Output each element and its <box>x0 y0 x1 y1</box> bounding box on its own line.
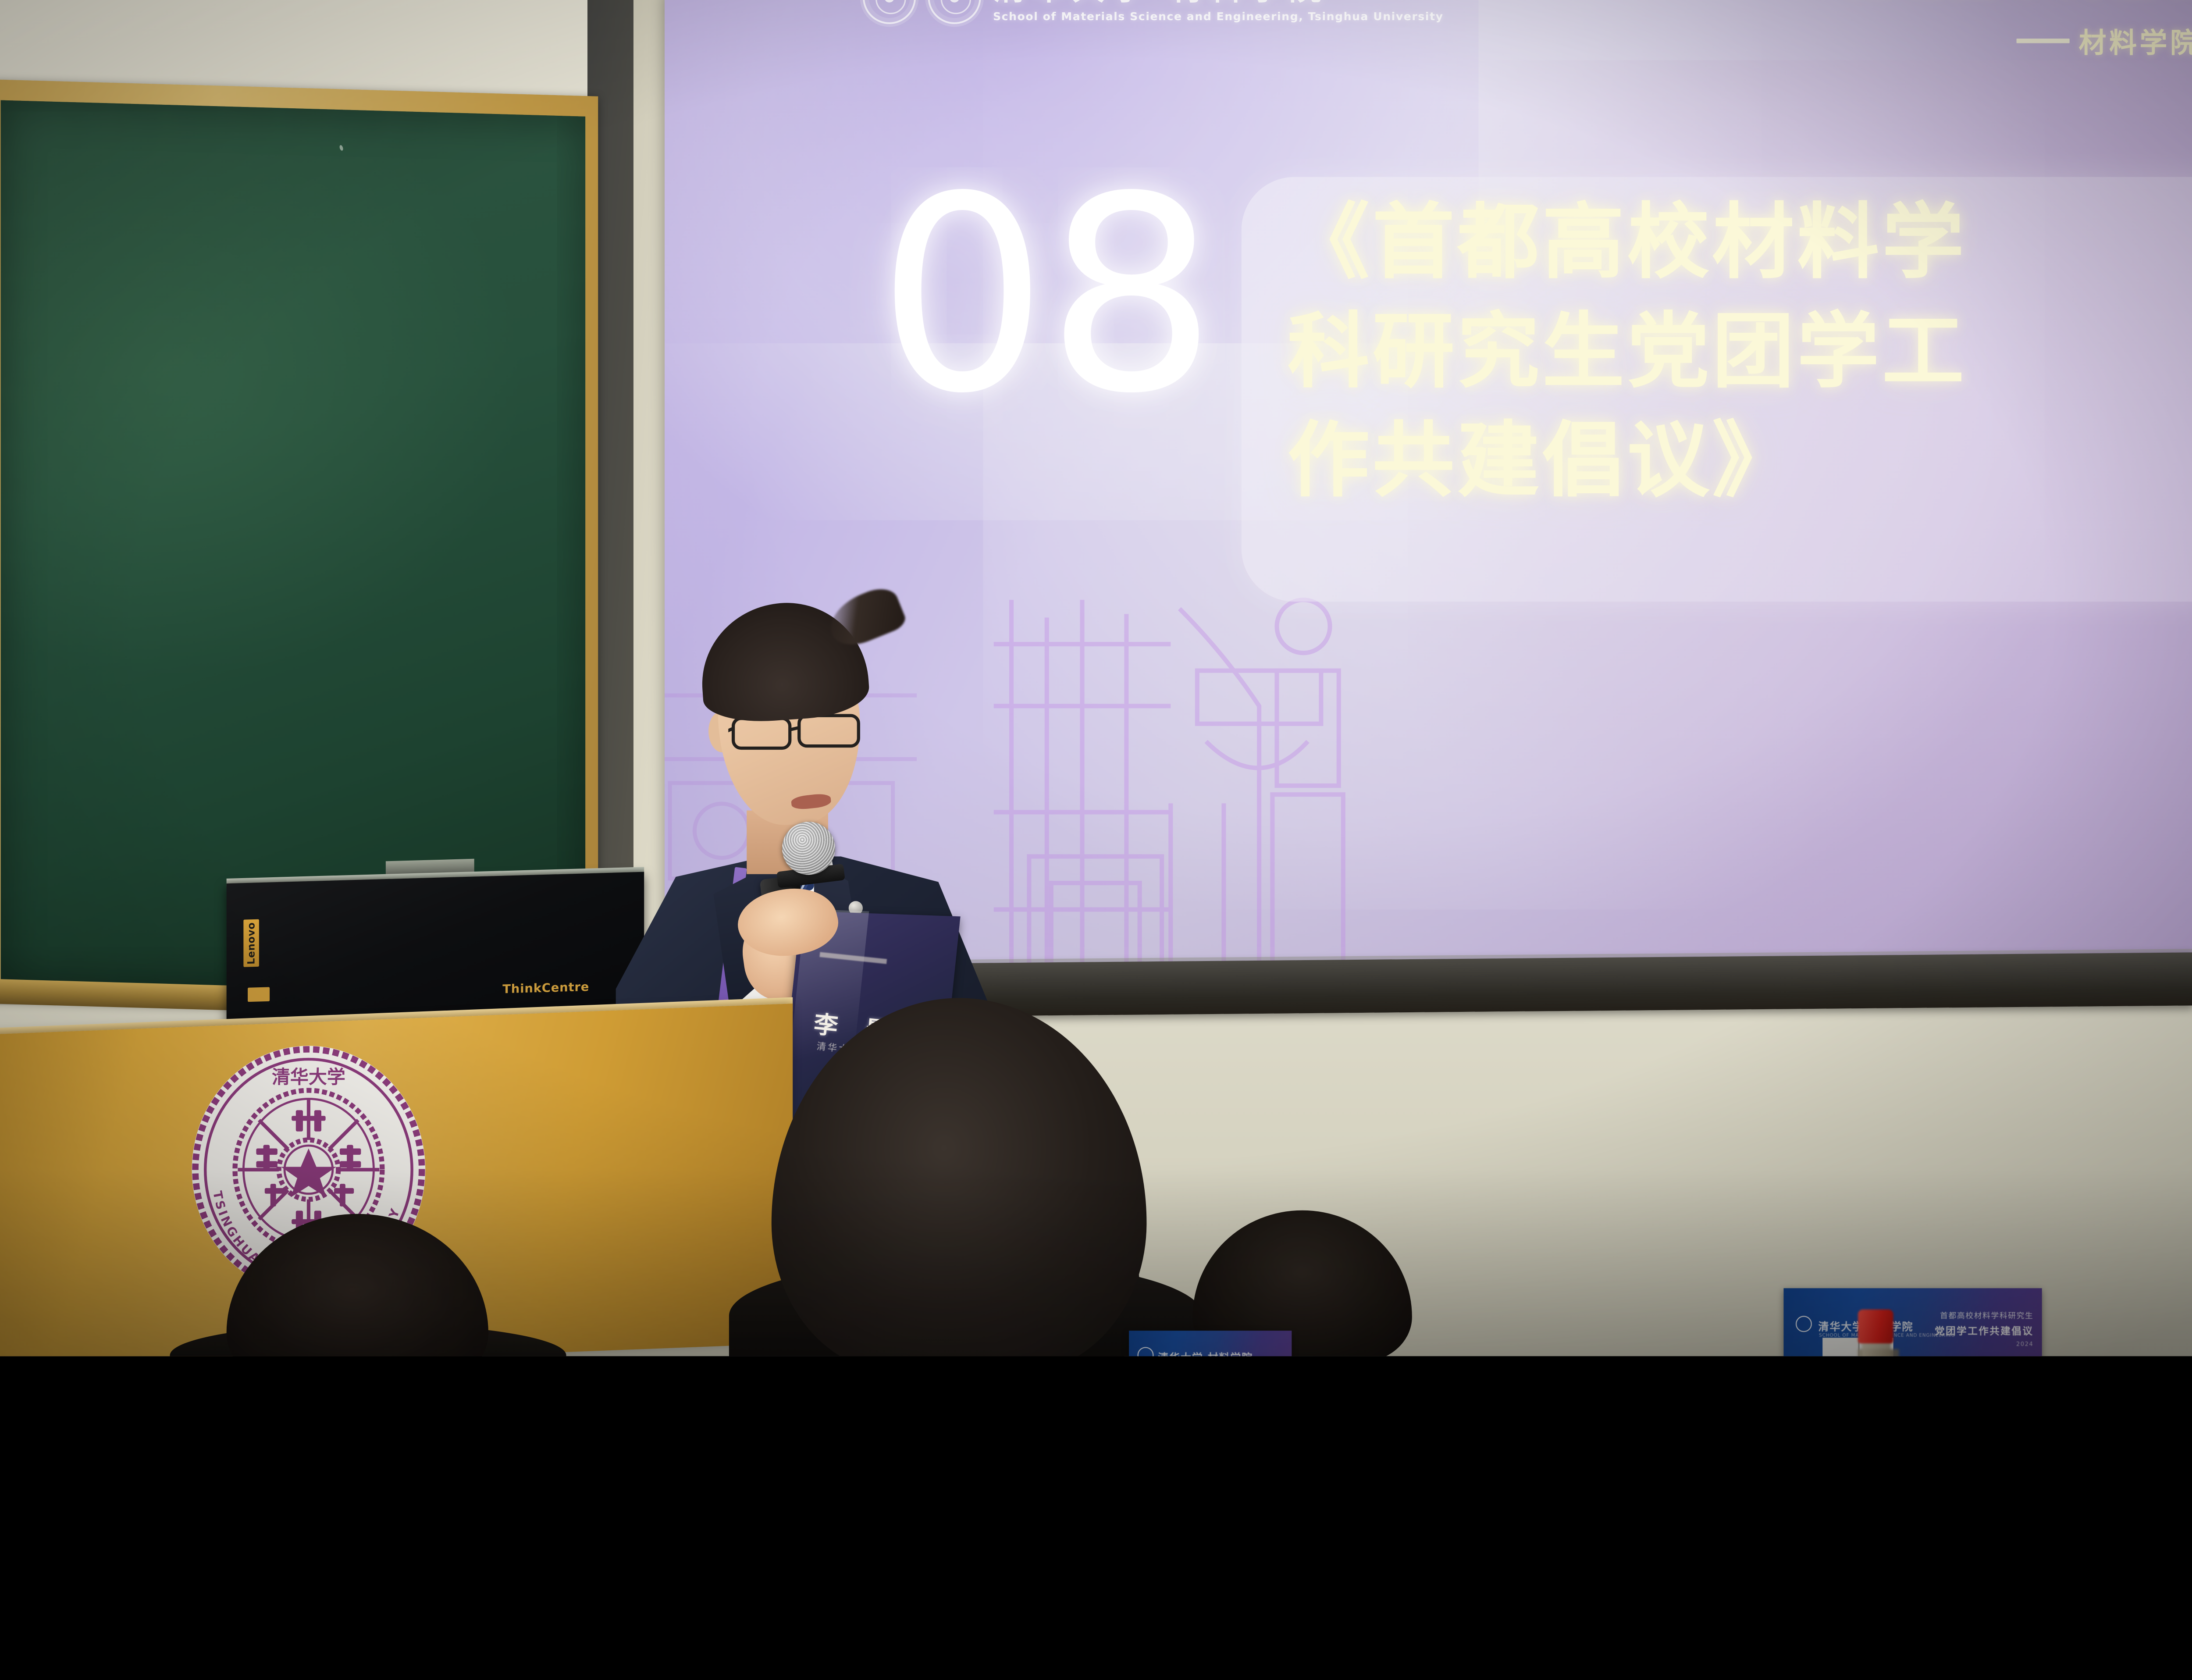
tsinghua-seal-icon <box>863 0 916 24</box>
emblem-name-cn: 清华大学 <box>272 1066 345 1088</box>
materials-school-seal-icon <box>928 0 981 24</box>
placard-event-line-1: 首都高校材料学科研究生 <box>1935 1310 2033 1321</box>
chalkboard-surface <box>1 100 586 1000</box>
water-bottle-cap <box>1858 1310 1893 1343</box>
microphone-head-icon <box>782 822 835 875</box>
slide-banner: 凝魂固本铸基石 材料学院 <box>1843 0 2192 61</box>
banner-dash <box>2017 39 2070 43</box>
placard-event-line-2: 党团学工作共建倡议 <box>1935 1324 2033 1338</box>
banner-subtitle-row: 材料学院 <box>1843 21 2192 61</box>
banner-subtitle-text: 材料学院 <box>2079 21 2192 61</box>
lenovo-logo-text: Lenovo <box>246 922 257 965</box>
chalk-mark <box>339 145 344 151</box>
school-name-cn: 清华大学 材料学院 <box>993 0 1444 4</box>
lenovo-logo: Lenovo <box>243 919 259 967</box>
slide-title: 《首都高校材料学 科研究生党团学工 作共建倡议》 <box>1288 188 2192 515</box>
school-name-en: School of Materials Science and Engineer… <box>993 10 1444 23</box>
monitor-badge <box>248 987 270 1002</box>
table-placard-left: 清华大学 材料学院 SCHOOL OF MATERIALS SCIENCE AN… <box>1129 1331 1292 1356</box>
tsinghua-seal-icon <box>1796 1316 1812 1332</box>
placard-event-line-3: 2024 <box>1935 1341 2033 1347</box>
thinkcentre-logo-text: ThinkCentre <box>502 980 589 997</box>
tsinghua-seal-icon <box>1137 1347 1153 1356</box>
placard-event-text: 首都高校材料学科研究生 党团学工作共建倡议 2024 <box>1935 1310 2033 1347</box>
placard-org-cn: 清华大学 材料学院 <box>1158 1349 1253 1356</box>
slide-section-number: 08 <box>877 191 1215 401</box>
slide-header: 清华大学 材料学院 School of Materials Science an… <box>863 0 1677 38</box>
photograph-canvas: 清华大学 材料学院 School of Materials Science an… <box>0 0 2192 1356</box>
